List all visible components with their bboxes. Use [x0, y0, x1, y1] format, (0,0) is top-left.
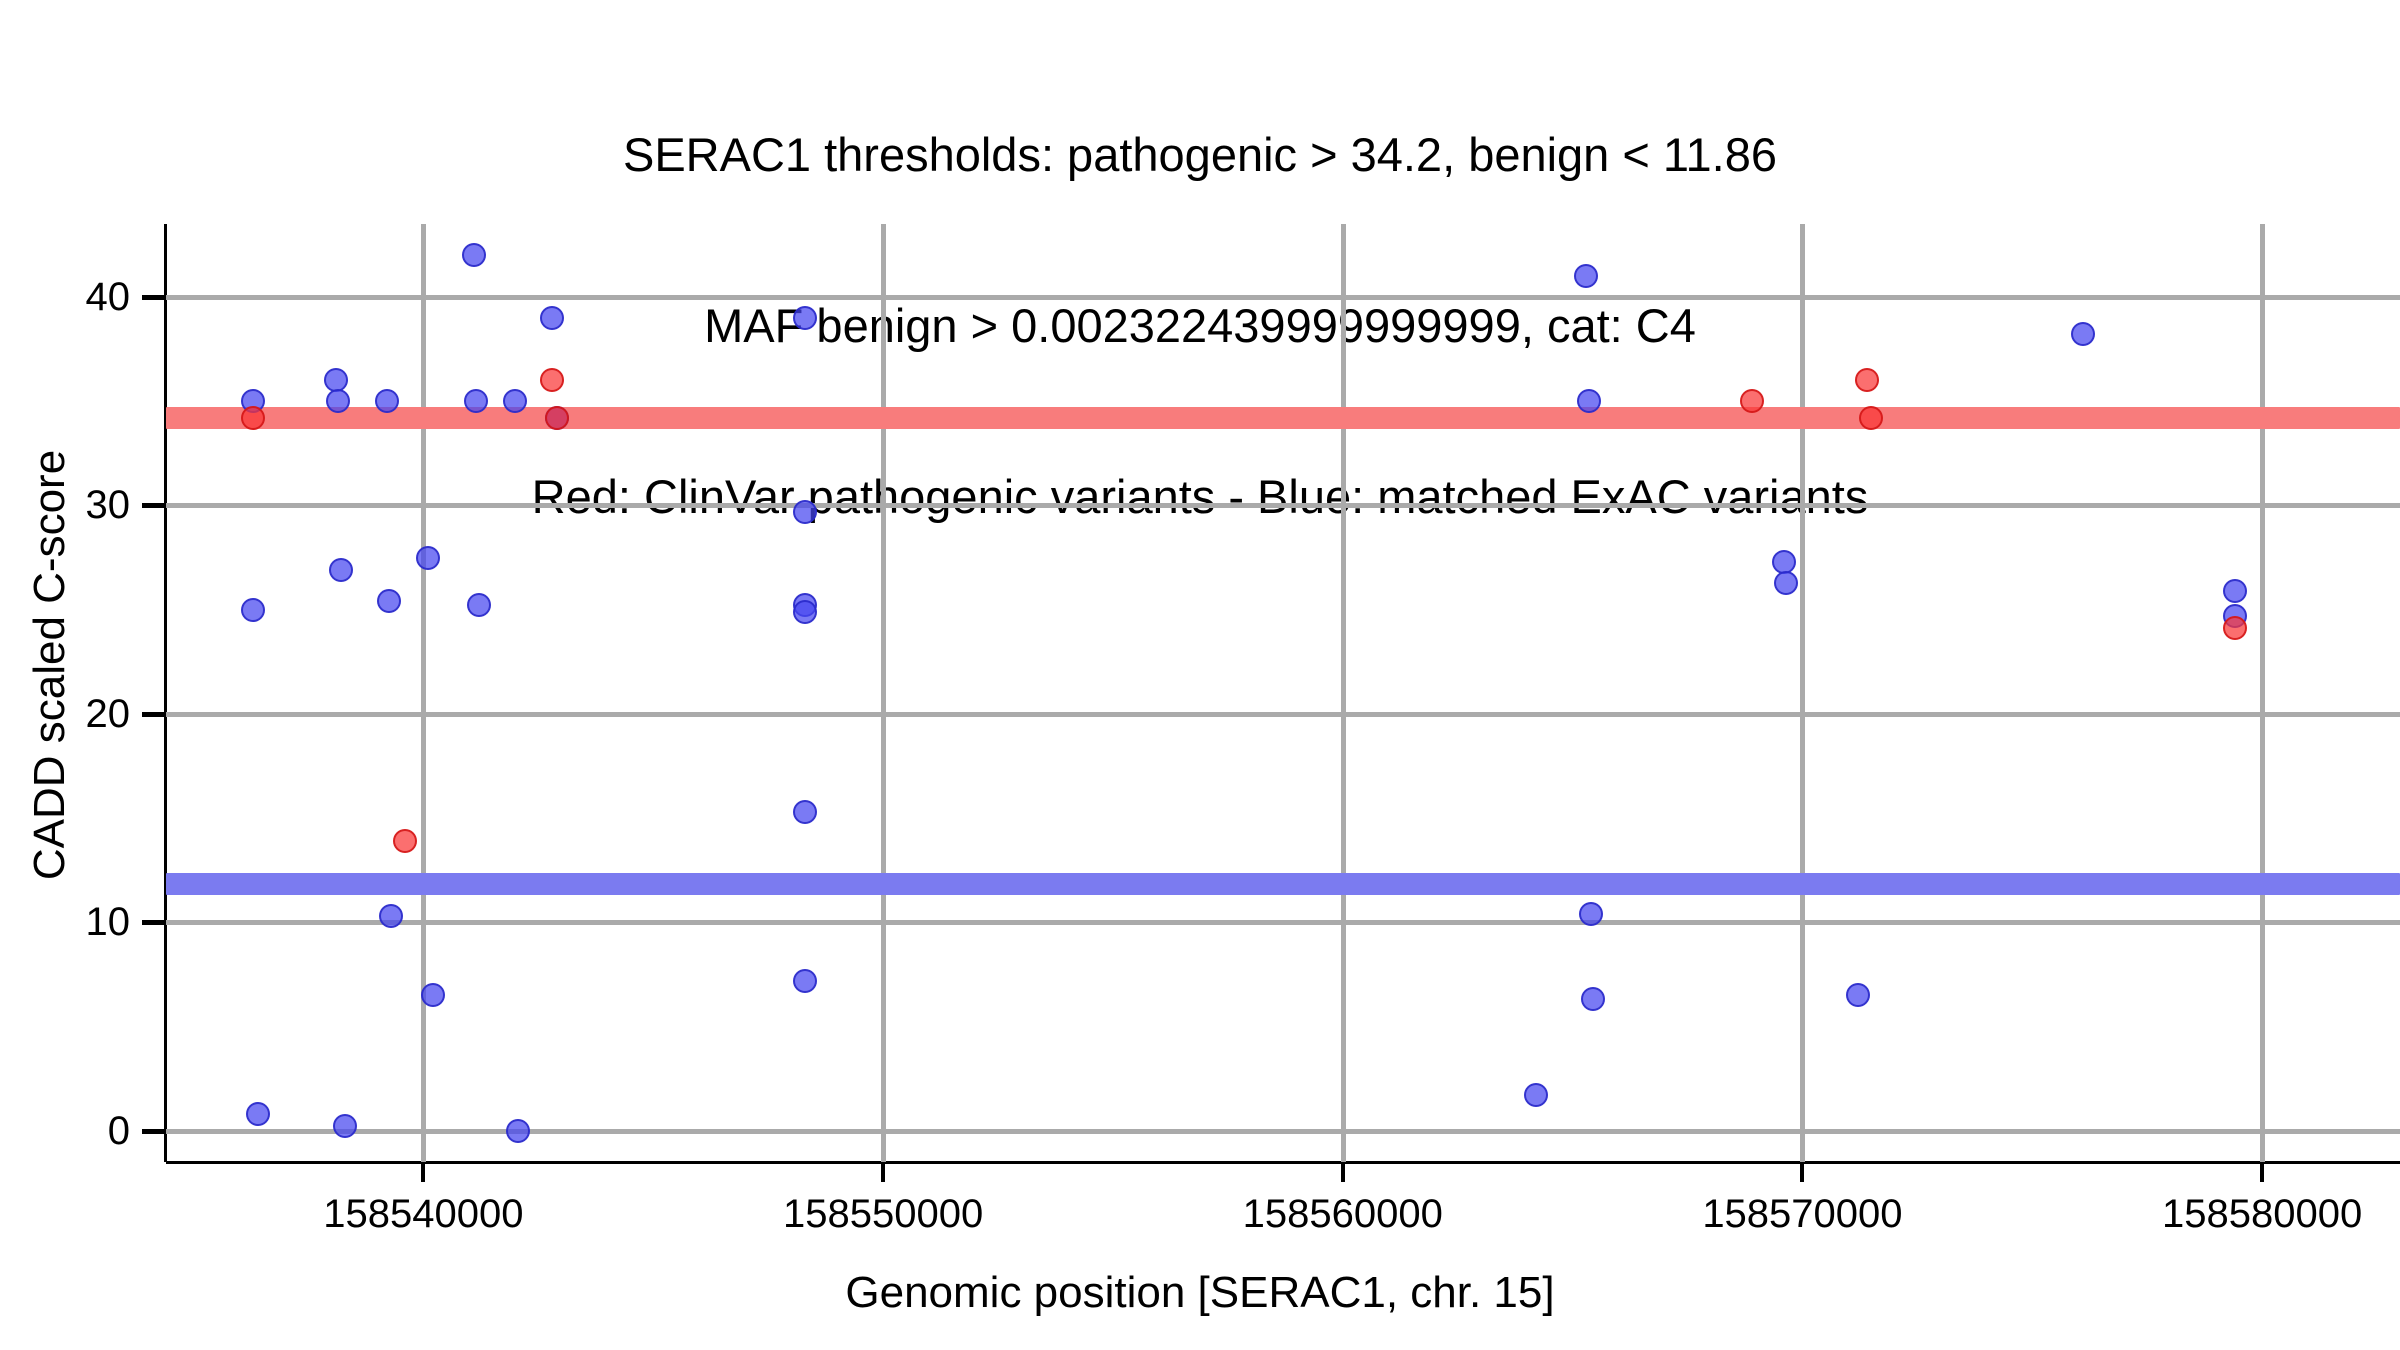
gridline-vertical — [881, 224, 886, 1162]
data-point — [793, 800, 817, 824]
gridline-vertical — [421, 224, 426, 1162]
data-point — [246, 1102, 270, 1126]
x-axis-tick — [2260, 1162, 2264, 1182]
data-point — [506, 1119, 530, 1143]
y-axis-tick — [142, 503, 164, 508]
data-point — [540, 306, 564, 330]
y-axis-tick — [142, 712, 164, 717]
data-point — [1581, 987, 1605, 1011]
data-point — [462, 243, 486, 267]
y-axis-tick — [142, 1129, 164, 1134]
x-axis-tick-label: 158550000 — [783, 1194, 983, 1234]
data-point — [379, 904, 403, 928]
gridline-vertical — [1800, 224, 1805, 1162]
y-axis-tick — [142, 920, 164, 925]
data-point — [540, 368, 564, 392]
x-axis-tick — [1800, 1162, 1804, 1182]
gridline-horizontal — [166, 295, 2400, 300]
gridline-horizontal — [166, 1129, 2400, 1134]
data-point — [2223, 616, 2247, 640]
threshold-band-benign — [166, 873, 2400, 895]
x-axis-tick-label: 158560000 — [1243, 1194, 1443, 1234]
x-axis-label: Genomic position [SERAC1, chr. 15] — [0, 1268, 2400, 1318]
x-axis-tick — [1341, 1162, 1345, 1182]
chart-page: SERAC1 thresholds: pathogenic > 34.2, be… — [0, 0, 2400, 1350]
data-point — [1774, 571, 1798, 595]
data-point — [1846, 983, 1870, 1007]
y-axis-tick-label: 30 — [86, 485, 131, 525]
data-point — [793, 969, 817, 993]
data-point — [416, 546, 440, 570]
x-axis-tick-label: 158540000 — [323, 1194, 523, 1234]
data-point — [793, 306, 817, 330]
data-point — [503, 389, 527, 413]
x-axis-tick — [881, 1162, 885, 1182]
data-point — [393, 829, 417, 853]
data-point — [1859, 406, 1883, 430]
data-point — [2223, 579, 2247, 603]
data-point — [377, 589, 401, 613]
data-point — [464, 389, 488, 413]
y-axis-tick-label: 40 — [86, 277, 131, 317]
data-point — [241, 598, 265, 622]
data-point — [1574, 264, 1598, 288]
data-point — [329, 558, 353, 582]
gridline-vertical — [2260, 224, 2265, 1162]
data-point — [1579, 902, 1603, 926]
gridline-vertical — [1341, 224, 1346, 1162]
y-axis-label: CADD scaled C-score — [25, 255, 75, 1075]
gridline-horizontal — [166, 503, 2400, 508]
data-point — [375, 389, 399, 413]
plot-area: 0102030401585400001585500001585600001585… — [166, 224, 2400, 1162]
data-point — [326, 389, 350, 413]
y-axis-tick-label: 20 — [86, 694, 131, 734]
x-axis-tick — [421, 1162, 425, 1182]
threshold-band-pathogenic — [166, 407, 2400, 429]
data-point — [1855, 368, 1879, 392]
data-point — [793, 500, 817, 524]
y-axis-tick-label: 10 — [86, 902, 131, 942]
x-axis-tick-label: 158580000 — [2162, 1194, 2362, 1234]
data-point — [421, 983, 445, 1007]
data-point — [793, 600, 817, 624]
data-point — [1524, 1083, 1548, 1107]
y-axis-tick-label: 0 — [108, 1111, 130, 1151]
data-point — [1577, 389, 1601, 413]
x-axis-tick-label: 158570000 — [1702, 1194, 1902, 1234]
data-point — [545, 406, 569, 430]
data-point — [2071, 322, 2095, 346]
gridline-horizontal — [166, 920, 2400, 925]
data-point — [333, 1114, 357, 1138]
chart-title-line-1: SERAC1 thresholds: pathogenic > 34.2, be… — [0, 126, 2400, 183]
data-point — [241, 406, 265, 430]
y-axis-tick — [142, 295, 164, 300]
data-point — [467, 593, 491, 617]
data-point — [1740, 389, 1764, 413]
gridline-horizontal — [166, 712, 2400, 717]
